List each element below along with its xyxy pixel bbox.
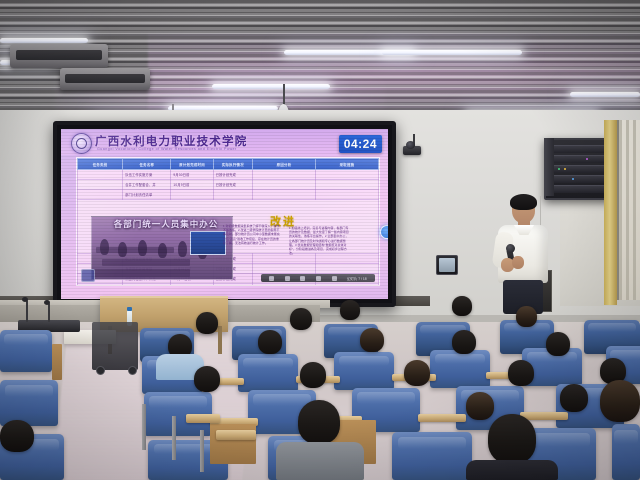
table-header-cell: 实际执行情况 (213, 159, 252, 170)
seat-support-post (172, 416, 176, 460)
slide-page-indicator: 幻灯片 7 / 18 (347, 276, 367, 281)
lectern-leg (218, 326, 222, 354)
table-cell (253, 264, 316, 274)
table-header-cell: 采取措施 (316, 159, 379, 170)
table-cell (316, 264, 379, 274)
seat-support-post (200, 430, 204, 472)
countdown-timer: 04:24 (339, 135, 382, 153)
slide-corner-badge (81, 269, 95, 282)
table-cell: 已按计划完成 (213, 170, 252, 180)
table-cell (253, 179, 316, 189)
table-cell: 已按计划完成 (213, 283, 252, 286)
table-cell (316, 283, 379, 286)
confidence-monitor (436, 255, 458, 275)
gooseneck-microphone (48, 303, 50, 322)
rack-status-led (586, 158, 588, 160)
table-cell (171, 189, 213, 199)
ceiling-tube-light (0, 38, 88, 43)
audience-shoulders (276, 442, 364, 480)
audience-head-foreground (488, 414, 536, 464)
seat-wood-back (52, 344, 62, 380)
wall-mounted-presentation-display[interactable]: 广西水利电力职业技术学院 Guangxi Vocational College … (53, 121, 396, 307)
table-cell (316, 170, 379, 180)
audience-head (300, 362, 326, 388)
ceiling-air-conditioner (60, 68, 150, 90)
lecture-hall-photo: 广西水利电力职业技术学院 Guangxi Vocational College … (0, 0, 640, 480)
ceiling-tube-light (570, 92, 640, 97)
ceiling-tube-light (212, 84, 330, 89)
pen-tool-icon[interactable] (300, 276, 305, 281)
audience-shoulders (466, 460, 558, 480)
table-cell: 合并工作配套合、并 (123, 179, 171, 189)
table-row: 合并工作配套合、并 10月9日前 已按计划完成 (78, 179, 379, 189)
table-cell (78, 170, 123, 180)
prev-slide-icon[interactable] (269, 276, 274, 281)
gooseneck-mic-head-icon (22, 297, 28, 302)
ceiling-tube-light (382, 50, 522, 55)
presenter-hand-right (512, 256, 524, 269)
table-cell: 首届二次审核 (123, 283, 171, 286)
table-cell (253, 170, 316, 180)
camera-lens-icon (406, 141, 415, 149)
table-cell: 已按计划完成 (213, 179, 252, 189)
table-cell (253, 283, 316, 286)
slide-content-body: 任务类别 任务名称 原计划完成时间 实际执行情况 原因分析 采取措施 (76, 157, 380, 286)
seat (612, 424, 640, 480)
ceiling-air-conditioner (10, 44, 108, 68)
table-cell (253, 189, 316, 199)
university-crest-logo (71, 133, 92, 154)
audience-head (452, 296, 472, 316)
presenter-speaker (492, 196, 554, 314)
seat (238, 354, 298, 392)
table-header-cell: 原因分析 (253, 159, 316, 170)
audience-head (290, 308, 312, 330)
table-cell: 10月9日前 (171, 179, 213, 189)
table-row: 队伍工作实施方案 9月30日前 已按计划完成 (78, 170, 379, 180)
audience-head (546, 332, 570, 356)
photo-inner-screen (190, 231, 226, 255)
zoom-icon[interactable] (316, 276, 321, 281)
table-row: 部门计划责任清单 (78, 189, 379, 199)
table-header-cell: 原计划完成时间 (171, 159, 213, 170)
rack-status-led (564, 168, 566, 170)
seat (334, 352, 394, 390)
institution-title-en: Guangxi Vocational College of Water Reso… (97, 147, 237, 151)
water-bottle-cap (127, 307, 132, 311)
audience-head-foreground (600, 380, 640, 422)
rack-side-panel (544, 138, 554, 196)
seat (430, 350, 490, 388)
audience-head (508, 360, 534, 386)
gooseneck-microphone (26, 300, 28, 322)
table-header-cell: 任务类别 (78, 159, 123, 170)
audience-head (360, 328, 384, 352)
audience-head (404, 360, 430, 386)
annotation-pen-button[interactable] (380, 225, 388, 239)
seat (0, 330, 52, 372)
window-frame (617, 120, 640, 300)
table-cell: 部门计划责任清单 (123, 189, 171, 199)
photo-caption: 各部门统一人员集中办公 (91, 218, 241, 230)
wall-pillar (604, 120, 617, 305)
seat-support-post (142, 404, 146, 450)
cause-analysis-text: 1.对初级数据采集系统了解不够深入，操作不够熟练。2.改进二级学院统计员的指导不… (223, 224, 281, 245)
audience-head (452, 330, 476, 354)
audience-head (196, 312, 218, 334)
cart-wheel (128, 366, 137, 375)
pendant-cable (283, 84, 285, 106)
rack-status-led (572, 178, 574, 180)
microphone-head-icon (506, 244, 515, 253)
presentation-toolbar[interactable]: 幻灯片 7 / 18 (261, 274, 375, 282)
table-cell (78, 283, 123, 286)
rack-status-led (558, 168, 560, 170)
table-cell (213, 189, 252, 199)
equipment-cart (92, 322, 138, 370)
presentation-slide: 广西水利电力职业技术学院 Guangxi Vocational College … (61, 129, 388, 299)
seat (0, 380, 58, 426)
audience-head (516, 306, 537, 327)
measures-text: 1.加强线上培训，完善与进程内容，各部门专员的统计及数据，最大化度了解一些内容项… (289, 226, 351, 255)
audience-head-foreground (298, 400, 340, 444)
table-cell: 11月18日前 (171, 283, 213, 286)
audience-head (560, 384, 588, 412)
table-header-row: 任务类别 任务名称 原计划完成时间 实际执行情况 原因分析 采取措施 (78, 159, 379, 170)
seat (392, 432, 472, 480)
seat-armrest (186, 414, 220, 423)
display-panel: 广西水利电力职业技术学院 Guangxi Vocational College … (61, 129, 388, 299)
audience-head (194, 366, 220, 392)
table-cell: 队伍工作实施方案 (123, 170, 171, 180)
next-slide-icon[interactable] (285, 276, 290, 281)
table-header-cell: 任务名称 (123, 159, 171, 170)
menu-icon[interactable] (332, 276, 337, 281)
gooseneck-mic-head-icon (44, 300, 50, 305)
audience-head (466, 392, 494, 420)
table-cell: 9月30日前 (171, 170, 213, 180)
table-cell (78, 189, 123, 199)
table-cell (316, 179, 379, 189)
seat-armrest (216, 430, 256, 440)
table-cell (78, 179, 123, 189)
table-cell (316, 189, 379, 199)
audience-head (340, 300, 360, 320)
cart-wheel (96, 366, 105, 375)
seat-armrest (418, 414, 466, 422)
audience-head (0, 420, 34, 452)
presenter-hair (510, 194, 537, 210)
table-row: 首届二次审核 11月18日前 已按计划完成 (78, 283, 379, 286)
audience-head (258, 330, 282, 354)
